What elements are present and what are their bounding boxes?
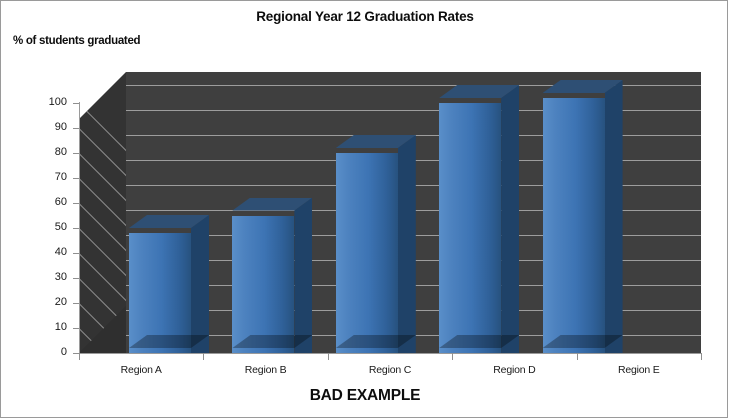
bar-region-e[interactable]	[543, 80, 623, 353]
side-wall-gridline	[79, 128, 127, 176]
y-axis-label: 60	[27, 196, 67, 208]
x-axis-tick	[577, 353, 578, 360]
bar-front-face	[543, 98, 605, 353]
y-axis-label: 20	[27, 296, 67, 308]
bar-region-d[interactable]	[439, 85, 519, 353]
y-axis-label: 50	[27, 221, 67, 233]
x-axis-tick	[79, 353, 80, 360]
y-axis-label: 80	[27, 146, 67, 158]
y-axis-label: 0	[27, 346, 67, 358]
y-axis-tick	[73, 178, 79, 179]
chart-container: Regional Year 12 Graduation Rates % of s…	[0, 0, 728, 418]
y-axis-label: 40	[27, 246, 67, 258]
x-axis-label: Region A	[86, 364, 196, 376]
bar-side-face	[191, 215, 209, 353]
side-wall-gridline	[79, 178, 127, 226]
plot-side-wall	[79, 72, 127, 353]
bar-front-face	[232, 216, 294, 354]
y-axis-label: 10	[27, 321, 67, 333]
y-axis-tick	[73, 103, 79, 104]
y-axis-tick	[73, 278, 79, 279]
bar-side-face	[294, 198, 312, 354]
x-axis-label: Region E	[584, 364, 694, 376]
side-wall-gridline	[79, 228, 127, 276]
side-wall-gridline	[79, 203, 127, 251]
y-axis-tick	[73, 153, 79, 154]
y-axis-tick	[73, 253, 79, 254]
x-axis-tick	[203, 353, 204, 360]
y-axis-tick	[73, 228, 79, 229]
x-axis-tick	[452, 353, 453, 360]
plot-area	[1, 1, 729, 419]
x-axis-label: Region C	[335, 364, 445, 376]
y-axis-tick	[73, 203, 79, 204]
y-axis-tick	[73, 128, 79, 129]
x-axis-label: Region B	[211, 364, 321, 376]
bar-side-face	[605, 80, 623, 353]
y-axis-line	[79, 102, 80, 354]
x-axis-title: BAD EXAMPLE	[1, 387, 729, 405]
y-axis-tick	[73, 303, 79, 304]
side-wall-gridline	[79, 103, 127, 151]
side-wall-gridline	[79, 253, 127, 301]
bar-front-face	[336, 153, 398, 353]
y-axis-label: 70	[27, 171, 67, 183]
x-axis-line	[79, 353, 701, 354]
side-wall-gridline	[79, 153, 127, 201]
bar-region-a[interactable]	[129, 215, 209, 353]
y-axis-label: 90	[27, 121, 67, 133]
bar-front-face	[439, 103, 501, 353]
bar-side-face	[398, 135, 416, 353]
y-axis-label: 100	[27, 96, 67, 108]
y-axis-tick	[73, 328, 79, 329]
bar-region-b[interactable]	[232, 198, 312, 354]
bar-side-face	[501, 85, 519, 353]
bar-region-c[interactable]	[336, 135, 416, 353]
x-axis-tick	[328, 353, 329, 360]
x-axis-tick	[701, 353, 702, 360]
y-axis-label: 30	[27, 271, 67, 283]
x-axis-label: Region D	[459, 364, 569, 376]
